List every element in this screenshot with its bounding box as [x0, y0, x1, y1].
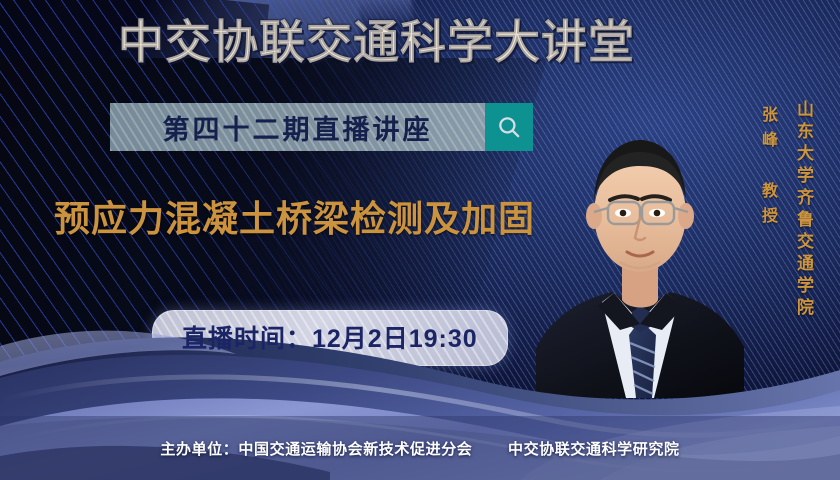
page-title: 中交协联交通科学大讲堂 — [118, 18, 635, 66]
episode-label: 第四十二期直播讲座 — [163, 108, 433, 147]
organizer-primary: 主办单位：中国交通运输协会新技术促进分会 — [160, 441, 472, 458]
organizer-line: 主办单位：中国交通运输协会新技术促进分会 中交协联交通科学研究院 — [160, 438, 679, 459]
footer-organizer-bar: 主办单位：中国交通运输协会新技术促进分会 中交协联交通科学研究院 — [0, 416, 840, 480]
episode-bar: 第四十二期直播讲座 — [110, 103, 533, 151]
live-lecture-poster: 张峰 教授 山东大学齐鲁交通学院 中交协联交通科学大讲堂 第四十二期直播讲座 预… — [0, 0, 840, 480]
search-button[interactable] — [485, 103, 533, 151]
speaker-name: 张峰 教授 — [755, 106, 779, 232]
search-icon — [496, 114, 522, 140]
lecture-topic: 预应力混凝土桥梁检测及加固 — [54, 190, 535, 242]
broadcast-time-label: 直播时间：12月2日19:30 — [182, 325, 478, 353]
organizer-secondary: 中交协联交通科学研究院 — [508, 441, 680, 458]
episode-label-box: 第四十二期直播讲座 — [110, 103, 485, 151]
